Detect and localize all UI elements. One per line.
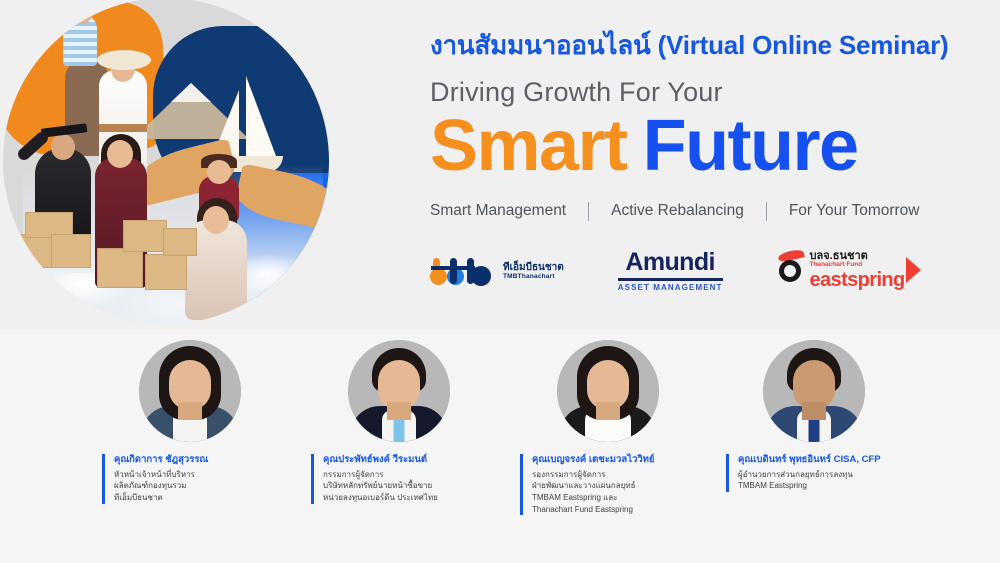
amundi-tagline: ASSET MANAGEMENT xyxy=(618,283,723,292)
speaker-text-4: คุณเบดินทร์ พุทธอินทร์ CISA, CFP ผู้อำนว… xyxy=(726,454,901,492)
ttb-logo: ทีเอ็มบีธนชาต TMBThanachart xyxy=(430,256,564,286)
ttb-mark-icon xyxy=(430,256,496,286)
seminar-thai-title: งานสัมมนาออนไลน์ (Virtual Online Seminar… xyxy=(430,30,970,61)
ttb-wordmark-text: ทีเอ็มบีธนชาต TMBThanachart xyxy=(503,262,564,281)
seminar-main-title: SmartFuture xyxy=(430,110,970,183)
collage-circle-mask xyxy=(3,0,329,324)
avatar-neck xyxy=(802,402,826,420)
speaker-role-line: หน่วยลงทุนอเบอร์ดีน ประเทศไทย xyxy=(323,492,486,504)
woman-white-belt xyxy=(99,124,147,132)
speaker-card-2: คุณประพัทธ์พงค์ วีระมนต์ กรรมการผู้จัดกา… xyxy=(291,340,506,504)
eastspring-ring-icon xyxy=(779,260,801,282)
amundi-underline xyxy=(618,278,723,281)
headline-block: งานสัมมนาออนไลน์ (Virtual Online Seminar… xyxy=(430,30,970,221)
eastspring-mark-icon xyxy=(777,251,807,285)
speaker-role-line: TMBAM Eastspring xyxy=(738,480,901,492)
partner-logo-row: ทีเอ็มบีธนชาต TMBThanachart Amundi ASSET… xyxy=(430,250,905,292)
speaker-row: คุณกิดาการ ชัฎสุวรรณ หัวหน้าเจ้าหน้าที่บ… xyxy=(0,340,1000,563)
tagline-smart-management: Smart Management xyxy=(430,202,566,220)
cardboard-box xyxy=(51,234,91,268)
speaker-role-line: กรรมการผู้จัดการ xyxy=(323,469,486,481)
avatar-neck xyxy=(596,402,620,420)
cardboard-box xyxy=(163,228,197,256)
speaker-card-1: คุณกิดาการ ชัฎสุวรรณ หัวหน้าเจ้าหน้าที่บ… xyxy=(82,340,297,504)
speaker-card-4: คุณเบดินทร์ พุทธอินทร์ CISA, CFP ผู้อำนว… xyxy=(706,340,921,492)
speaker-name: คุณกิดาการ ชัฎสุวรรณ xyxy=(114,454,277,467)
speaker-photo-1 xyxy=(139,340,241,442)
tagline-divider xyxy=(766,202,767,221)
graduate-head xyxy=(51,134,75,160)
avatar-neck xyxy=(387,402,411,420)
flying-child-head xyxy=(207,160,231,184)
ttb-stem-3 xyxy=(467,258,474,284)
eastspring-text-block: บลจ.ธนชาต Thanachart Fund eastspring xyxy=(810,251,905,291)
cardboard-box xyxy=(97,248,143,288)
speaker-role-line: ผลิตภัณฑ์กองทุนรวม xyxy=(114,480,277,492)
speaker-role-line: รองกรรมการผู้จัดการ xyxy=(532,469,695,481)
cardboard-box xyxy=(9,234,53,268)
speaker-role-line: Thanachart Fund Eastspring xyxy=(532,504,695,516)
speaker-role-line: TMBAM Eastspring และ xyxy=(532,492,695,504)
seminar-subtitle: Driving Growth For Your xyxy=(430,77,970,108)
mother-head xyxy=(203,206,229,234)
speaker-text-1: คุณกิดาการ ชัฎสุวรรณ หัวหน้าเจ้าหน้าที่บ… xyxy=(102,454,277,504)
ttb-stem-1 xyxy=(433,258,440,284)
ttb-crossbar xyxy=(431,266,475,270)
cardboard-box xyxy=(145,254,187,290)
avatar-neck xyxy=(178,402,202,420)
speaker-role-line: บริษัทหลักทรัพย์นายหน้าซื้อขาย xyxy=(323,480,486,492)
speaker-photo-2 xyxy=(348,340,450,442)
speaker-photo-4 xyxy=(763,340,865,442)
title-word-future: Future xyxy=(643,106,858,186)
eastspring-wordmark: eastspring xyxy=(810,270,905,291)
speaker-name: คุณประพัทธ์พงค์ วีระมนต์ xyxy=(323,454,486,467)
speaker-role-line: ผู้อำนวยการส่วนกลยุทธ์การลงทุน xyxy=(738,469,901,481)
speaker-role-line: ฝ่ายพัฒนาและวางแผนกลยุทธ์ xyxy=(532,480,695,492)
mountain-snow-cap-icon xyxy=(171,83,211,102)
speaker-text-3: คุณเบญจรงค์ เตชะมวลไววิทย์ รองกรรมการผู้… xyxy=(520,454,695,515)
ttb-thai-name: ทีเอ็มบีธนชาต xyxy=(503,262,564,274)
title-word-smart: Smart xyxy=(430,106,627,186)
tagline-divider xyxy=(588,202,589,221)
child-sun-hat-icon xyxy=(63,0,99,11)
speaker-name: คุณเบญจรงค์ เตชะมวลไววิทย์ xyxy=(532,454,695,467)
woman-burgundy-head xyxy=(107,140,133,168)
seminar-poster: งานสัมมนาออนไลน์ (Virtual Online Seminar… xyxy=(0,0,1000,563)
speaker-role-line: หัวหน้าเจ้าหน้าที่บริหาร xyxy=(114,469,277,481)
eastspring-arrow-icon xyxy=(906,257,921,283)
speaker-role-line: ทีเอ็มบีธนชาต xyxy=(114,492,277,504)
lifestyle-collage xyxy=(0,0,355,335)
speaker-card-3: คุณเบญจรงค์ เตชะมวลไววิทย์ รองกรรมการผู้… xyxy=(500,340,715,515)
speaker-name: คุณเบดินทร์ พุทธอินทร์ CISA, CFP xyxy=(738,454,901,467)
speaker-photo-3 xyxy=(557,340,659,442)
tagline-for-your-tomorrow: For Your Tomorrow xyxy=(789,202,920,220)
amundi-logo: Amundi ASSET MANAGEMENT xyxy=(618,250,723,292)
eastspring-logo: บลจ.ธนชาต Thanachart Fund eastspring xyxy=(777,251,905,291)
sun-hat-icon xyxy=(97,50,151,70)
cardboard-box xyxy=(123,220,167,252)
amundi-wordmark: Amundi xyxy=(618,250,723,275)
sailboat-sail-back-icon xyxy=(246,76,276,156)
tagline-row: Smart Management Active Rebalancing For … xyxy=(430,202,970,221)
eastspring-fund-name: Thanachart Fund xyxy=(810,262,905,269)
speaker-text-2: คุณประพัทธ์พงค์ วีระมนต์ กรรมการผู้จัดกา… xyxy=(311,454,486,504)
tagline-active-rebalancing: Active Rebalancing xyxy=(611,202,744,220)
ttb-english-name: TMBThanachart xyxy=(503,273,564,280)
ttb-stem-2 xyxy=(450,258,457,284)
